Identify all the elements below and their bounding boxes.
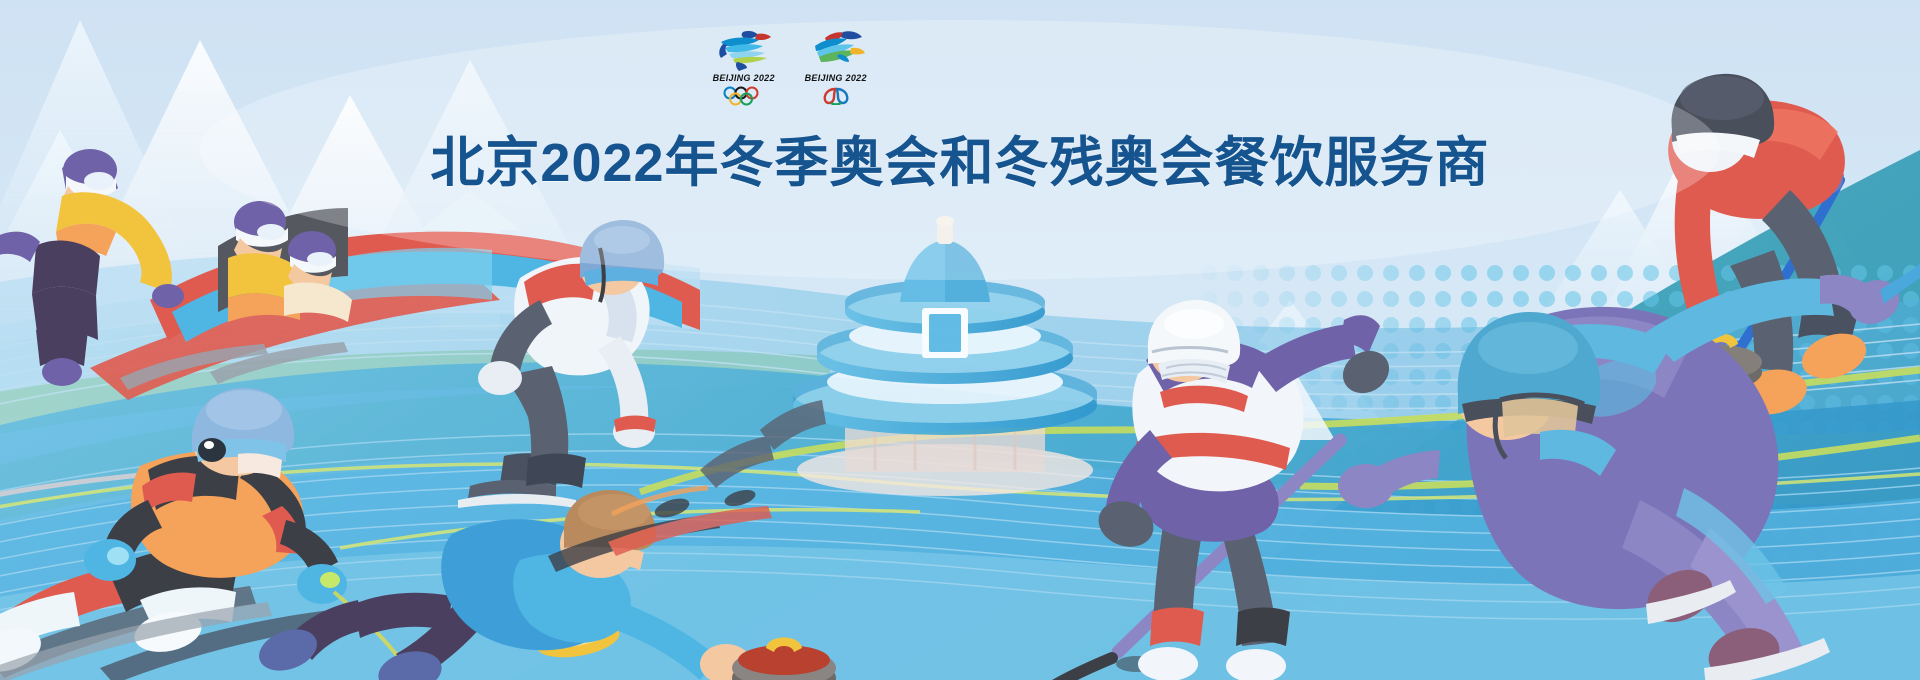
beijing-2022-paralympic-mark: [805, 28, 867, 72]
paralympic-wordmark: BEIJING 2022: [805, 74, 867, 84]
olympic-wordmark: BEIJING 2022: [713, 74, 775, 84]
olympic-rings-icon: [721, 86, 767, 106]
emblem-group: BEIJING 2022 BEIJIN: [700, 28, 880, 116]
beijing-2022-olympic-mark: [713, 28, 775, 72]
agitos-icon: [822, 87, 850, 105]
scenery-illustration: [0, 0, 1920, 680]
olympic-emblem: BEIJING 2022: [705, 28, 783, 106]
paralympic-emblem: BEIJING 2022: [797, 28, 875, 105]
olympics-catering-banner: BEIJING 2022 BEIJIN: [0, 0, 1920, 680]
page-title: 北京2022年冬季奥会和冬残奥会餐饮服务商: [0, 118, 1920, 197]
